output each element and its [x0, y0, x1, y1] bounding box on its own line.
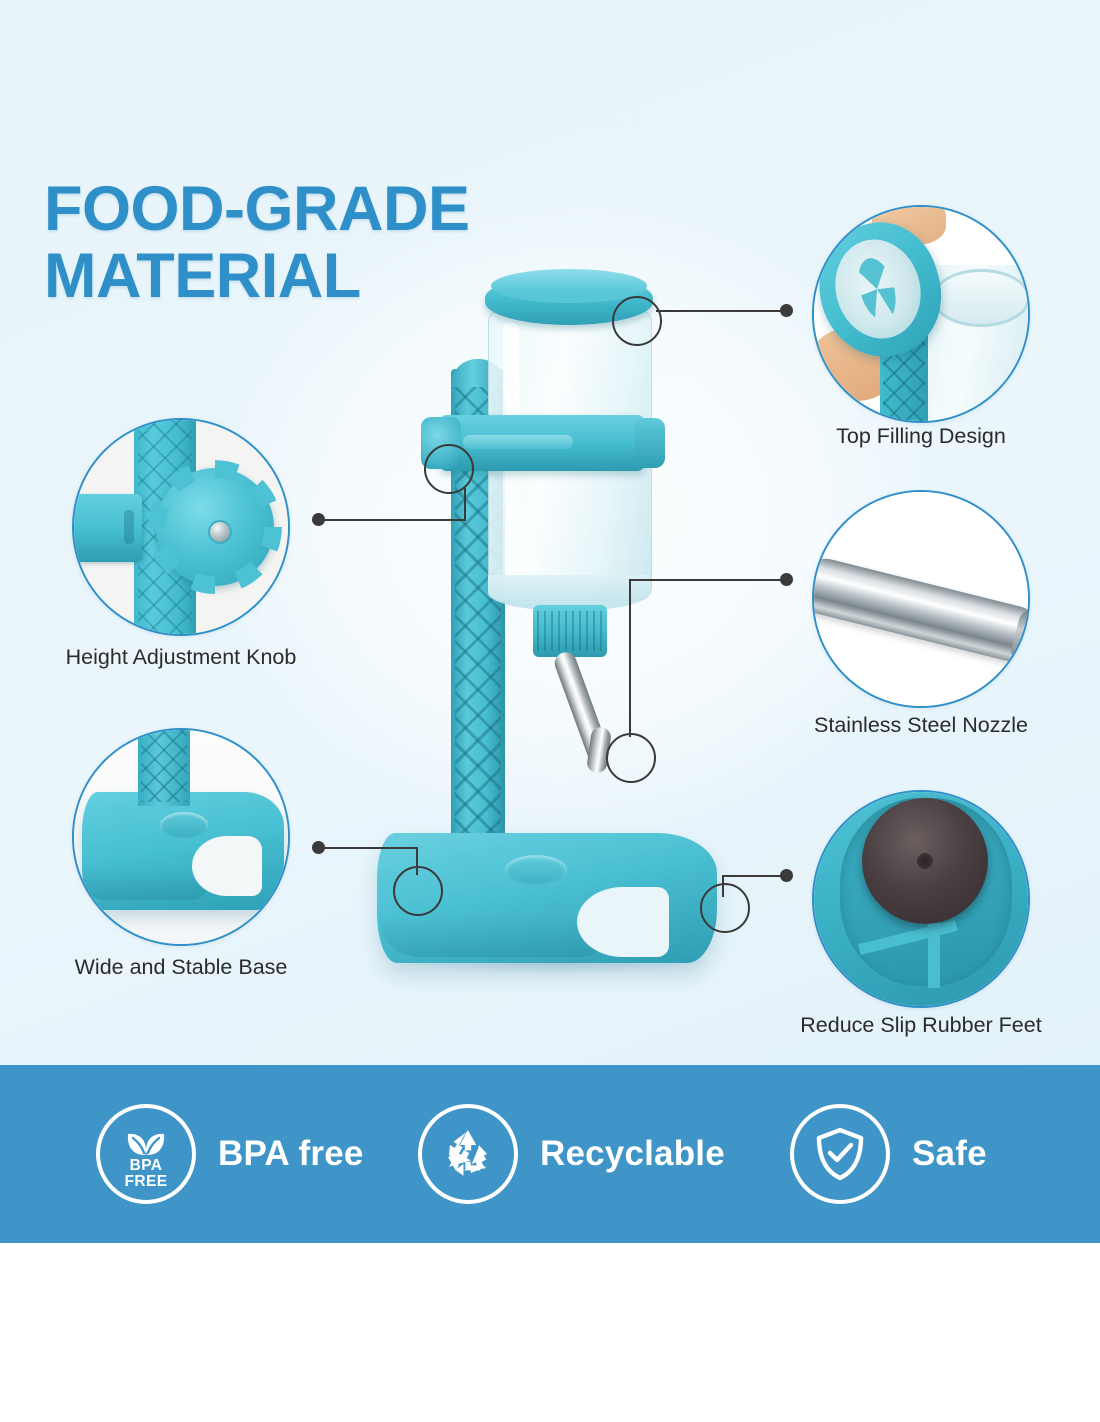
callout-line-knob-h — [318, 519, 466, 521]
product-base-lip — [379, 915, 605, 957]
callout-line-base-h — [318, 847, 418, 849]
leaf-bpa-free-icon: BPA FREE — [96, 1104, 196, 1204]
callout-line-nozzle-h — [629, 579, 786, 581]
callout-line-top-filling — [656, 310, 784, 312]
feature-caption-nozzle: Stainless Steel Nozzle — [791, 712, 1051, 740]
feature-top-filling-design: Top Filling Design — [812, 205, 1030, 423]
callout-marker-rubber-feet — [700, 883, 750, 933]
badge-recyclable: Recyclable — [418, 1104, 718, 1204]
title-line-2: MATERIAL — [44, 243, 684, 310]
product-valve — [533, 605, 607, 657]
bpa-free-stamp-text: BPA FREE — [100, 1158, 192, 1190]
badge-safe: Safe — [790, 1104, 987, 1204]
callout-marker-top-filling — [612, 296, 662, 346]
bpa-stamp-line-1: BPA — [130, 1157, 163, 1174]
lid-closeup-icon — [814, 207, 1028, 421]
callout-line-nozzle-v — [629, 579, 631, 737]
product-holder-right-arm — [635, 418, 665, 468]
feature-caption-top-filling: Top Filling Design — [791, 423, 1051, 451]
badge-label-recyclable: Recyclable — [540, 1134, 725, 1174]
badge-row: BPA FREE BPA free — [0, 1065, 1100, 1243]
feature-caption-knob: Height Adjustment Knob — [51, 644, 311, 672]
rubber-foot-closeup-icon — [814, 792, 1028, 1006]
feature-caption-base: Wide and Stable Base — [51, 954, 311, 982]
feature-stainless-steel-nozzle: Stainless Steel Nozzle — [812, 490, 1030, 708]
infographic-page: FOOD-GRADE MATERIAL — [0, 0, 1100, 1422]
callout-marker-nozzle — [606, 733, 656, 783]
page-title: FOOD-GRADE MATERIAL — [44, 176, 684, 310]
product-base-notch — [577, 887, 669, 957]
callout-line-knob-v — [464, 488, 466, 520]
badge-bpa-free: BPA FREE BPA free — [96, 1104, 396, 1204]
callout-marker-knob — [424, 444, 474, 494]
feature-image-rubber-feet — [812, 790, 1030, 1008]
feature-image-top-filling — [812, 205, 1030, 423]
badge-label-bpa-free: BPA free — [218, 1134, 364, 1174]
trust-badge-banner: BPA FREE BPA free — [0, 1065, 1100, 1243]
title-line-1: FOOD-GRADE — [44, 174, 469, 244]
feature-image-nozzle — [812, 490, 1030, 708]
callout-line-feet-v — [722, 875, 724, 897]
feature-height-adjustment-knob: Height Adjustment Knob — [72, 418, 290, 636]
callout-line-feet-h — [724, 875, 784, 877]
feature-image-knob — [72, 418, 290, 636]
shield-check-icon — [790, 1104, 890, 1204]
base-closeup-icon — [74, 730, 288, 944]
product-base-oval — [505, 855, 567, 885]
nozzle-closeup-icon — [814, 492, 1028, 706]
footer-whitespace — [0, 1243, 1100, 1422]
recycle-icon — [418, 1104, 518, 1204]
badge-label-safe: Safe — [912, 1134, 987, 1174]
feature-reduce-slip-rubber-feet: Reduce Slip Rubber Feet — [812, 790, 1030, 1008]
feature-caption-rubber-feet: Reduce Slip Rubber Feet — [791, 1012, 1051, 1040]
feature-wide-and-stable-base: Wide and Stable Base — [72, 728, 290, 946]
bpa-stamp-line-2: FREE — [125, 1173, 168, 1190]
callout-line-base-v — [416, 847, 418, 875]
knob-closeup-icon — [74, 420, 288, 634]
feature-image-base — [72, 728, 290, 946]
callout-marker-base — [393, 866, 443, 916]
